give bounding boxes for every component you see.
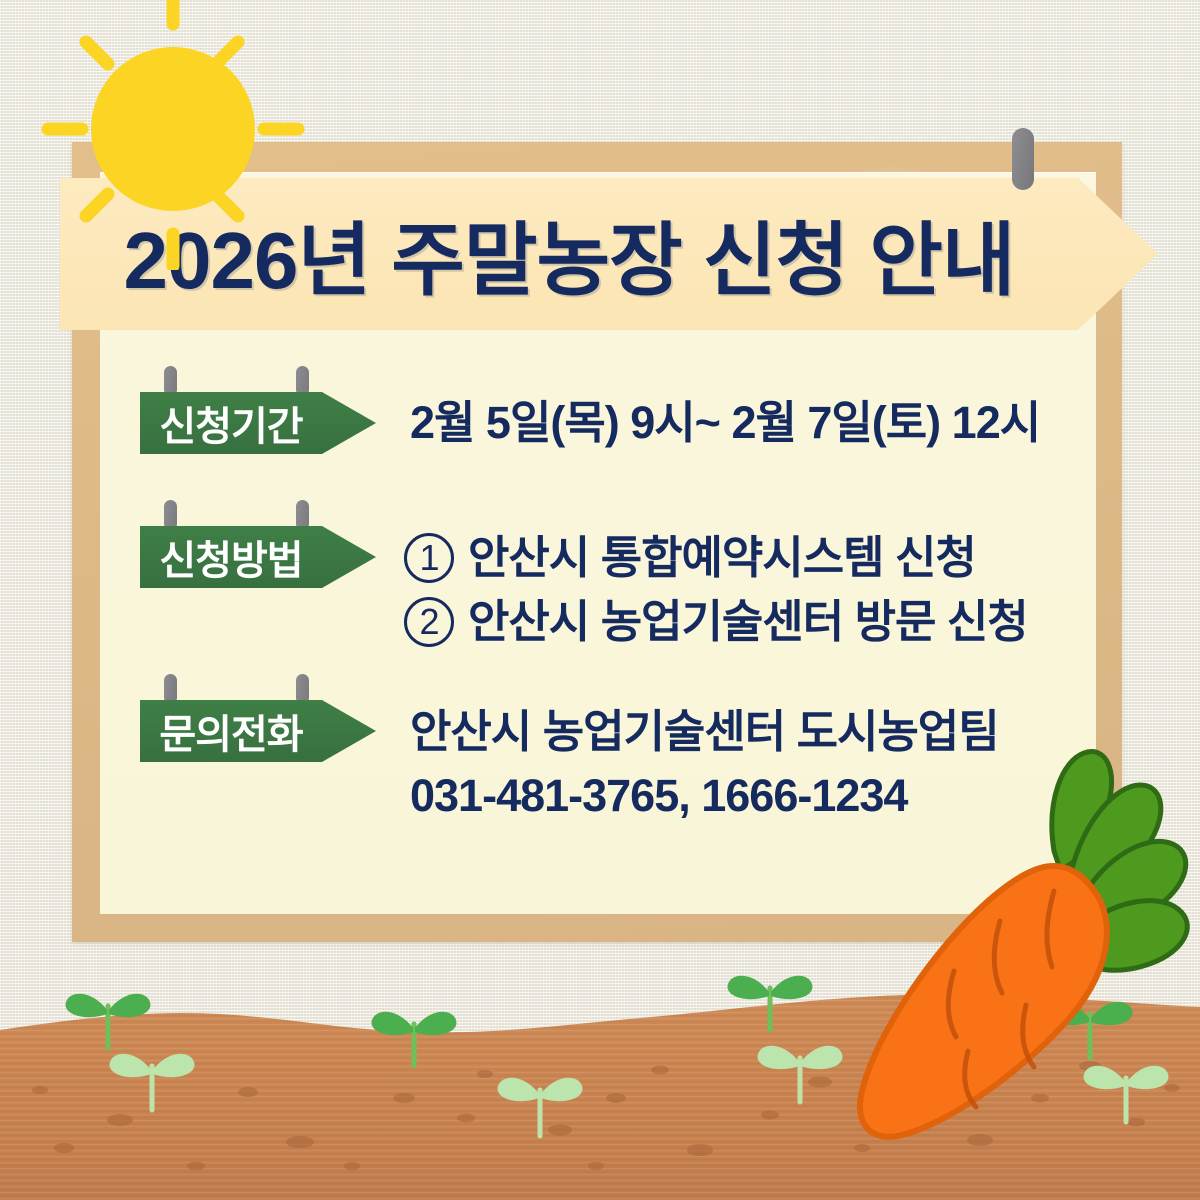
tag-shape: 신청방법 <box>140 526 376 588</box>
row-application-period: 신청기간 2월 5일(목) 9시~ 2월 7일(토) 12시 <box>140 392 1120 454</box>
pin-icon <box>164 500 177 530</box>
tag-application-method: 신청방법 <box>140 526 388 588</box>
tag-pins <box>140 374 350 394</box>
pin-icon <box>296 674 309 704</box>
circled-number-1: 1 <box>404 533 454 583</box>
tag-pins <box>140 508 350 528</box>
circled-number-2: 2 <box>404 597 454 647</box>
tag-shape: 신청기간 <box>140 392 376 454</box>
application-period-text: 2월 5일(목) 9시~ 2월 7일(토) 12시 <box>388 392 1120 454</box>
poster-canvas: 2026년 주말농장 신청 안내 <box>0 0 1200 1200</box>
pin-icon <box>296 366 309 396</box>
row-application-method: 신청방법 1 안산시 통합예약시스템 신청 2 안산시 농업기술센터 방문 신청 <box>140 526 1120 654</box>
tag-shape: 문의전화 <box>140 700 376 762</box>
method-text: 안산시 통합예약시스템 신청 <box>468 526 976 590</box>
tag-application-period: 신청기간 <box>140 392 388 454</box>
carrot-body <box>860 866 1107 1137</box>
pin-icon <box>296 500 309 530</box>
pin-icon <box>164 674 177 704</box>
carrot-illustration <box>840 735 1200 1155</box>
sun-icon <box>18 0 318 270</box>
tag-label: 신청기간 <box>140 394 322 452</box>
tag-label: 문의전화 <box>140 702 322 760</box>
method-item: 2 안산시 농업기술센터 방문 신청 <box>388 590 1120 654</box>
pin-icon <box>1012 128 1034 190</box>
row-body: 1 안산시 통합예약시스템 신청 2 안산시 농업기술센터 방문 신청 <box>388 526 1120 654</box>
row-body: 2월 5일(목) 9시~ 2월 7일(토) 12시 <box>388 392 1120 454</box>
method-text: 안산시 농업기술센터 방문 신청 <box>468 590 1028 654</box>
tag-label: 신청방법 <box>140 528 322 586</box>
sun-illustration <box>18 0 318 270</box>
carrot-icon <box>840 735 1200 1155</box>
tag-pins <box>140 682 350 702</box>
method-item: 1 안산시 통합예약시스템 신청 <box>388 526 1120 590</box>
pin-icon <box>164 366 177 396</box>
tag-contact: 문의전화 <box>140 700 388 762</box>
